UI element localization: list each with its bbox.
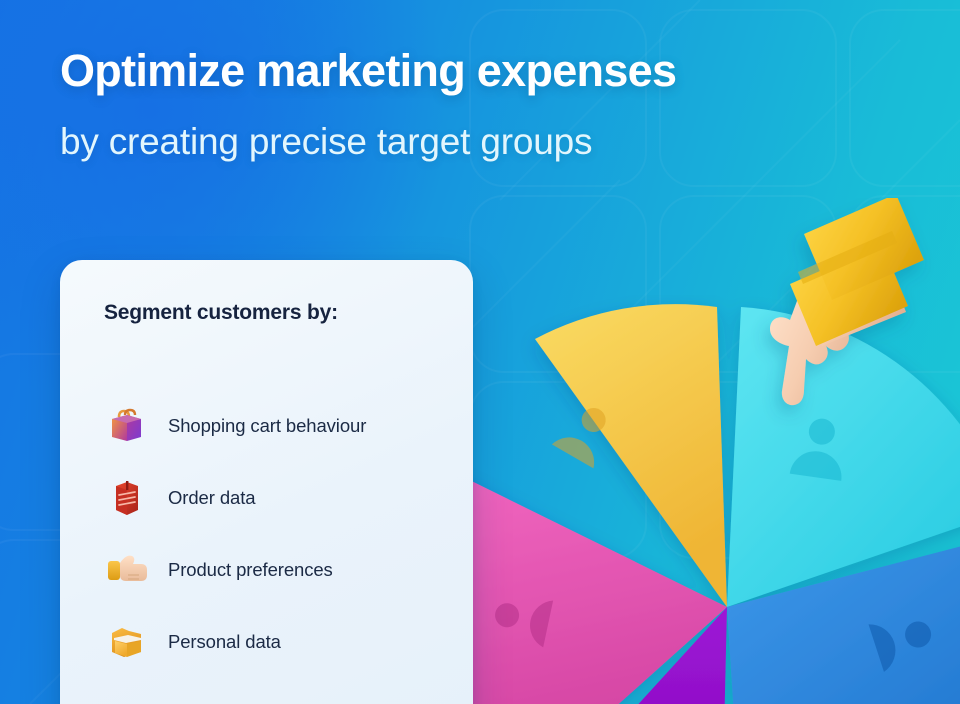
list-item-label: Personal data <box>168 631 281 653</box>
segment-list: Shopping cart behaviour <box>104 390 454 678</box>
promo-banner: Segment customers by: <box>0 0 960 704</box>
pointing-hand-cursor <box>742 198 952 428</box>
card-title: Segment customers by: <box>104 298 434 328</box>
segment-card: Segment customers by: <box>60 260 473 704</box>
thumbs-up-icon <box>104 548 150 592</box>
receipt-document-icon <box>104 476 150 520</box>
list-item-label: Product preferences <box>168 559 333 581</box>
folder-icon <box>104 620 150 664</box>
page-title: Optimize marketing expenses <box>60 48 930 95</box>
list-item-label: Order data <box>168 487 255 509</box>
list-item[interactable]: Shopping cart behaviour <box>104 390 454 462</box>
list-item-label: Shopping cart behaviour <box>168 415 366 437</box>
list-item[interactable]: Order data <box>104 462 454 534</box>
page-subtitle: by creating precise target groups <box>60 122 930 163</box>
list-item[interactable]: Product preferences <box>104 534 454 606</box>
list-item[interactable]: Personal data <box>104 606 454 678</box>
shopping-bag-icon <box>104 404 150 448</box>
